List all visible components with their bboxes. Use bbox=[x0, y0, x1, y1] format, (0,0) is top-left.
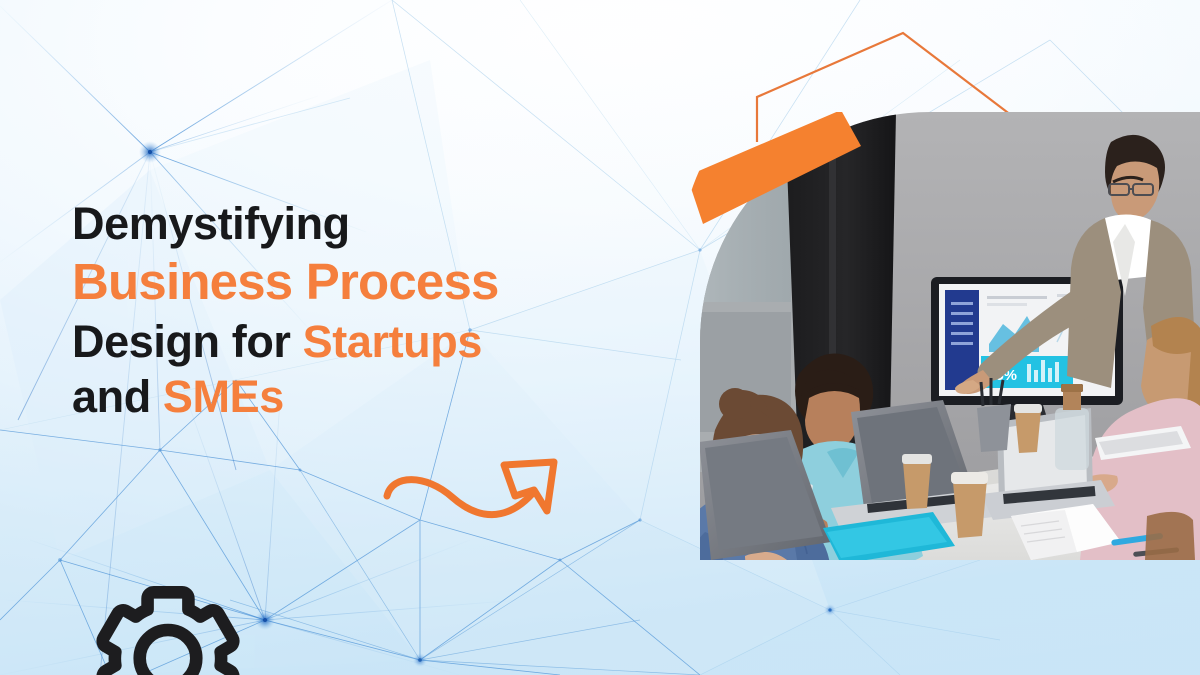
headline-line-3-accent: Startups bbox=[303, 316, 482, 367]
headline: Demystifying Business Process Design for… bbox=[72, 196, 692, 424]
headline-line-3-dark: Design for bbox=[72, 316, 303, 367]
headline-line-4: and SMEs bbox=[72, 369, 692, 424]
curved-arrow-icon bbox=[382, 452, 582, 532]
headline-line-4-accent: SMEs bbox=[163, 371, 284, 422]
headline-line-2: Business Process bbox=[72, 251, 692, 313]
coffee-cup-1 bbox=[902, 454, 932, 509]
headline-line-2-text: Business Process bbox=[72, 253, 499, 310]
headline-line-4-dark: and bbox=[72, 371, 163, 422]
photo-circular-mask: 65% bbox=[681, 112, 1200, 560]
meeting-photo-illustration: 65% bbox=[681, 112, 1200, 560]
hero-photo: 65% bbox=[681, 112, 1200, 560]
headline-line-3: Design for Startups bbox=[72, 314, 692, 369]
headline-line-1: Demystifying bbox=[72, 196, 692, 251]
banner-canvas: Demystifying Business Process Design for… bbox=[0, 0, 1200, 675]
headline-line-1-text: Demystifying bbox=[72, 198, 350, 249]
gear-icon bbox=[58, 586, 278, 675]
